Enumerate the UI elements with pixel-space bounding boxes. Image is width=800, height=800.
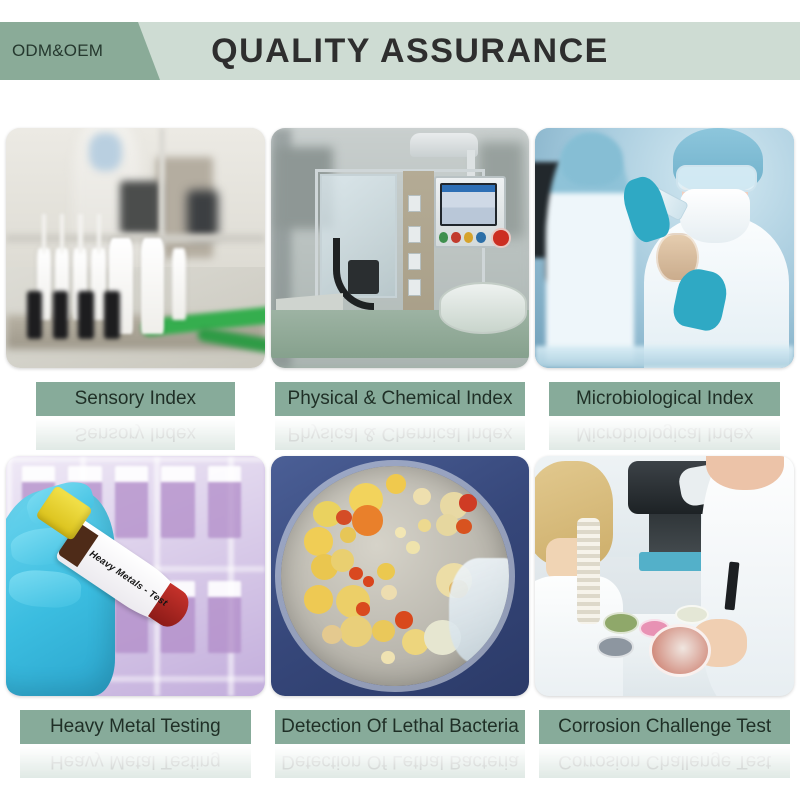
caption-block: Microbiological Index Microbiological In… [535,382,794,450]
quality-card: Physical & Chemical Index Physical & Che… [271,128,530,450]
card-caption: Physical & Chemical Index [275,382,526,416]
caption-reflection: Detection Of Lethal Bacteria [275,744,526,778]
quality-card: Heavy Metals - Test Heavy Metal Testing … [6,456,265,778]
heavy-metal-sample-photo: Heavy Metals - Test [6,456,265,696]
quality-card: Microbiological Index Microbiological In… [535,128,794,450]
caption-block: Corrosion Challenge Test Corrosion Chall… [535,710,794,778]
packaging-machine-photo [271,128,530,368]
odm-oem-tab: ODM&OEM [0,22,160,80]
quality-card: Detection Of Lethal Bacteria Detection O… [271,456,530,778]
card-caption: Microbiological Index [549,382,780,416]
caption-reflection: Microbiological Index [549,416,780,450]
caption-reflection: Physical & Chemical Index [275,416,526,450]
caption-reflection: Corrosion Challenge Test [539,744,790,778]
card-caption: Corrosion Challenge Test [539,710,790,744]
card-caption: Sensory Index [36,382,235,416]
quality-assurance-page: QUALITY ASSURANCE ODM&OEM [0,0,800,800]
corrosion-test-photo [535,456,794,696]
caption-block: Physical & Chemical Index Physical & Che… [271,382,530,450]
quality-card-grid: Sensory Index Sensory Index [0,128,800,778]
bacteria-petri-dish-photo [271,456,530,696]
card-caption: Detection Of Lethal Bacteria [275,710,526,744]
caption-block: Sensory Index Sensory Index [6,382,265,450]
card-caption: Heavy Metal Testing [20,710,251,744]
microbiology-lab-photo [535,128,794,368]
caption-block: Heavy Metal Testing Heavy Metal Testing [6,710,265,778]
production-line-photo [6,128,265,368]
caption-reflection: Heavy Metal Testing [20,744,251,778]
quality-card: Sensory Index Sensory Index [6,128,265,450]
quality-card: Corrosion Challenge Test Corrosion Chall… [535,456,794,778]
caption-block: Detection Of Lethal Bacteria Detection O… [271,710,530,778]
odm-oem-label: ODM&OEM [12,41,103,61]
caption-reflection: Sensory Index [36,416,235,450]
page-header: QUALITY ASSURANCE ODM&OEM [0,22,800,80]
